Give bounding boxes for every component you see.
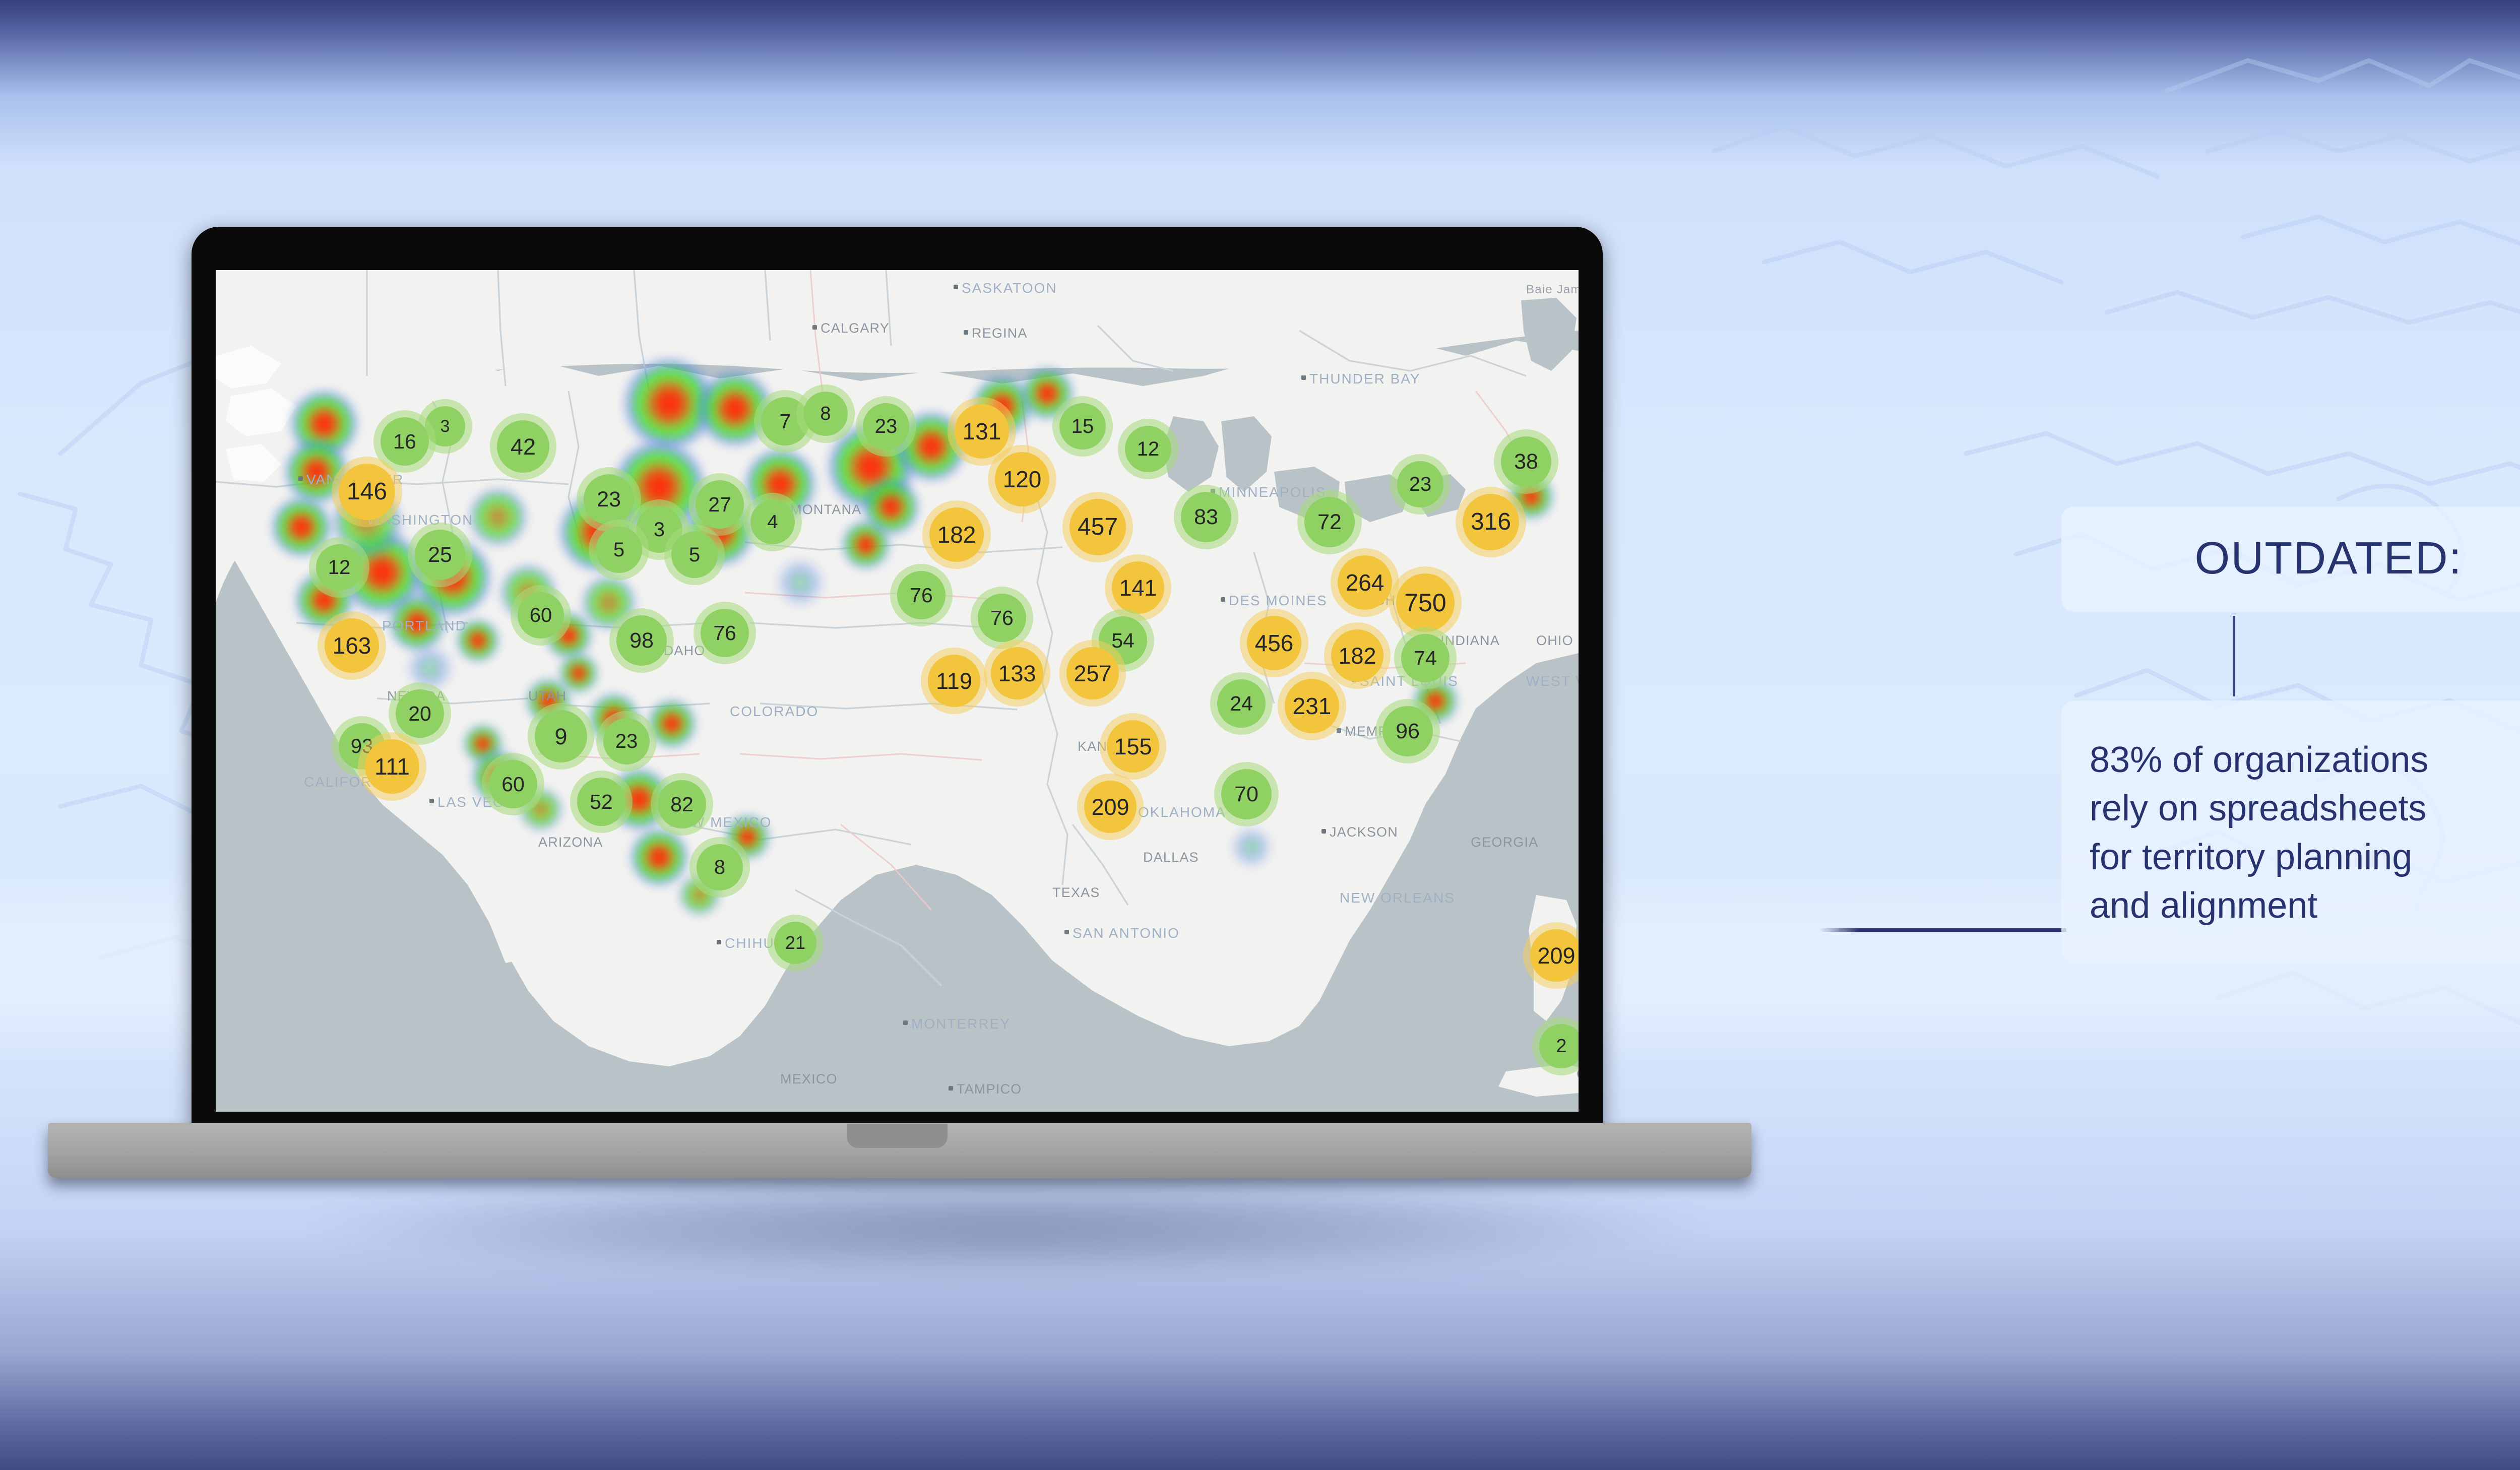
map-data-bubble[interactable]: 750 (1396, 573, 1455, 632)
map-data-bubble[interactable]: 24 (1217, 679, 1266, 728)
map-city-label: OKLAHOMA (1138, 804, 1226, 820)
map-data-bubble[interactable]: 12 (1125, 426, 1171, 472)
map-data-bubble[interactable]: 119 (928, 655, 980, 707)
map-data-bubble[interactable]: 70 (1221, 769, 1272, 819)
map-data-bubble[interactable]: 7 (761, 397, 809, 445)
city-dot (949, 1086, 953, 1091)
map-city-label: TAMPICO (957, 1081, 1022, 1097)
map-data-bubble[interactable]: 74 (1401, 634, 1450, 682)
map-data-bubble[interactable]: 182 (1331, 629, 1383, 682)
map-data-bubble[interactable]: 182 (929, 507, 984, 562)
map-data-bubble[interactable]: 76 (897, 571, 946, 619)
city-dot (812, 325, 817, 330)
city-dot (954, 285, 958, 289)
map-data-bubble[interactable]: 82 (658, 780, 706, 828)
map-city-label: JACKSON (1330, 824, 1398, 840)
map-data-bubble[interactable]: 264 (1338, 555, 1392, 610)
map-city-label: PORTLAND (382, 618, 467, 634)
callout-group: OUTDATED: 83% of organizations rely on s… (2061, 506, 2520, 964)
map-data-bubble[interactable]: 111 (365, 739, 419, 794)
map-city-label: DES MOINES (1229, 593, 1328, 609)
map-data-bubble[interactable]: 2 (1539, 1024, 1579, 1068)
map-data-bubble[interactable]: 120 (995, 452, 1049, 506)
callout-body-panel: 83% of organizations rely on spreadsheet… (2061, 700, 2520, 964)
map-city-label: CUBA (1577, 1066, 1579, 1082)
map-city-label: TEXAS (1052, 885, 1100, 901)
map-data-bubble[interactable]: 23 (1397, 461, 1443, 507)
map-city-label: UTAH (528, 688, 566, 704)
map-city-label: MEXICO (780, 1071, 838, 1087)
city-dot (429, 799, 434, 803)
map-data-bubble[interactable]: 209 (1084, 781, 1137, 833)
map-data-bubble[interactable]: 25 (415, 530, 465, 580)
map-city-label: SAN ANTONIO (1073, 925, 1180, 941)
map-data-bubble[interactable]: 163 (325, 618, 379, 673)
map-city-label: Baie James (1526, 283, 1579, 297)
map-data-bubble[interactable]: 457 (1069, 499, 1126, 555)
map-data-bubble[interactable]: 133 (991, 647, 1043, 699)
map-data-bubble[interactable]: 76 (701, 609, 749, 657)
city-dot (1337, 728, 1341, 733)
map-city-label: NEW ORLEANS (1340, 890, 1455, 906)
callout-title: OUTDATED: (2194, 533, 2462, 584)
map-city-label: DALLAS (1143, 850, 1199, 865)
map-city-label: REGINA (972, 326, 1028, 341)
map-data-bubble[interactable]: 141 (1112, 561, 1164, 614)
map-data-bubble[interactable]: 5 (596, 527, 642, 573)
city-dot (1321, 829, 1326, 834)
map-data-bubble[interactable]: 60 (518, 592, 564, 638)
map-data-bubble[interactable]: 155 (1107, 720, 1159, 773)
map-data-bubble[interactable]: 98 (616, 615, 667, 666)
map-city-label: SASKATOON (962, 280, 1057, 296)
city-dot (1221, 597, 1225, 602)
map-data-bubble[interactable]: 146 (339, 464, 395, 520)
map-data-bubble[interactable]: 27 (696, 480, 744, 529)
map-data-bubble[interactable]: 21 (774, 922, 816, 964)
map-data-bubble[interactable]: 5 (671, 532, 718, 578)
city-dot (1301, 375, 1306, 380)
map-data-bubble[interactable]: 131 (955, 404, 1009, 459)
map-data-bubble[interactable]: 96 (1382, 706, 1433, 756)
map-data-bubble[interactable]: 52 (577, 778, 625, 826)
map-data-bubble[interactable]: 12 (316, 544, 362, 591)
map-city-label: GEORGIA (1471, 835, 1538, 850)
laptop-base-notch (847, 1124, 948, 1148)
map-city-label: INDIANA (1440, 633, 1500, 649)
map-data-bubble[interactable]: 76 (978, 594, 1026, 642)
map-city-label: THUNDER BAY (1309, 371, 1421, 387)
callout-title-panel: OUTDATED: (2061, 506, 2520, 612)
map-data-bubble[interactable]: 42 (497, 420, 549, 473)
callout-divider (2233, 616, 2235, 696)
map-city-label: CALGARY (821, 321, 890, 336)
callout-body-text: 83% of organizations rely on spreadsheet… (2090, 736, 2520, 930)
map-city-label: WEST VIRGINIA (1526, 673, 1579, 689)
map-data-bubble[interactable]: 60 (489, 760, 537, 808)
map-city-label: OHIO (1536, 633, 1573, 649)
city-dot (1064, 930, 1069, 934)
map-data-bubble[interactable]: 8 (803, 392, 848, 436)
map-data-bubble[interactable]: 72 (1304, 497, 1355, 547)
map-city-label: ARIZONA (538, 835, 603, 850)
map-data-bubble[interactable]: 3 (425, 406, 465, 446)
map-data-bubble[interactable]: 316 (1463, 494, 1519, 550)
laptop-screen: SASKATOONCALGARYREGINABaie JamesTHUNDER … (216, 270, 1579, 1112)
map-city-label: MONTANA (790, 502, 861, 518)
city-dot (964, 330, 968, 335)
city-dot (717, 940, 721, 944)
map-data-bubble[interactable]: 23 (584, 474, 634, 525)
map-city-label: COLORADO (730, 704, 818, 720)
map-data-bubble[interactable]: 38 (1501, 436, 1551, 487)
map-data-bubble[interactable]: 16 (381, 417, 429, 466)
map-data-bubble[interactable]: 23 (603, 718, 650, 764)
map-data-bubble[interactable]: 257 (1066, 647, 1119, 699)
map-data-bubble[interactable]: 15 (1059, 403, 1106, 450)
map-data-bubble[interactable]: 20 (396, 689, 444, 738)
map-data-bubble[interactable]: 9 (535, 710, 587, 762)
map-data-bubble[interactable]: 231 (1285, 679, 1339, 733)
callout-connector-line (1819, 928, 2066, 932)
territory-heatmap[interactable]: SASKATOONCALGARYREGINABaie JamesTHUNDER … (216, 270, 1579, 1112)
city-dot (298, 476, 303, 481)
map-data-bubble[interactable]: 209 (1530, 929, 1579, 982)
map-data-bubble[interactable]: 456 (1247, 616, 1301, 670)
map-city-label: MONTERREY (911, 1016, 1011, 1032)
map-city-label: MINNEAPOLIS (1219, 484, 1326, 500)
map-data-bubble[interactable]: 23 (863, 403, 909, 450)
map-data-bubble[interactable]: 8 (697, 844, 743, 890)
map-data-bubble[interactable]: 83 (1181, 492, 1231, 542)
city-dot (903, 1020, 908, 1025)
laptop-device: SASKATOONCALGARYREGINABaie JamesTHUNDER … (192, 227, 1603, 1129)
map-data-bubble[interactable]: 4 (750, 500, 795, 544)
